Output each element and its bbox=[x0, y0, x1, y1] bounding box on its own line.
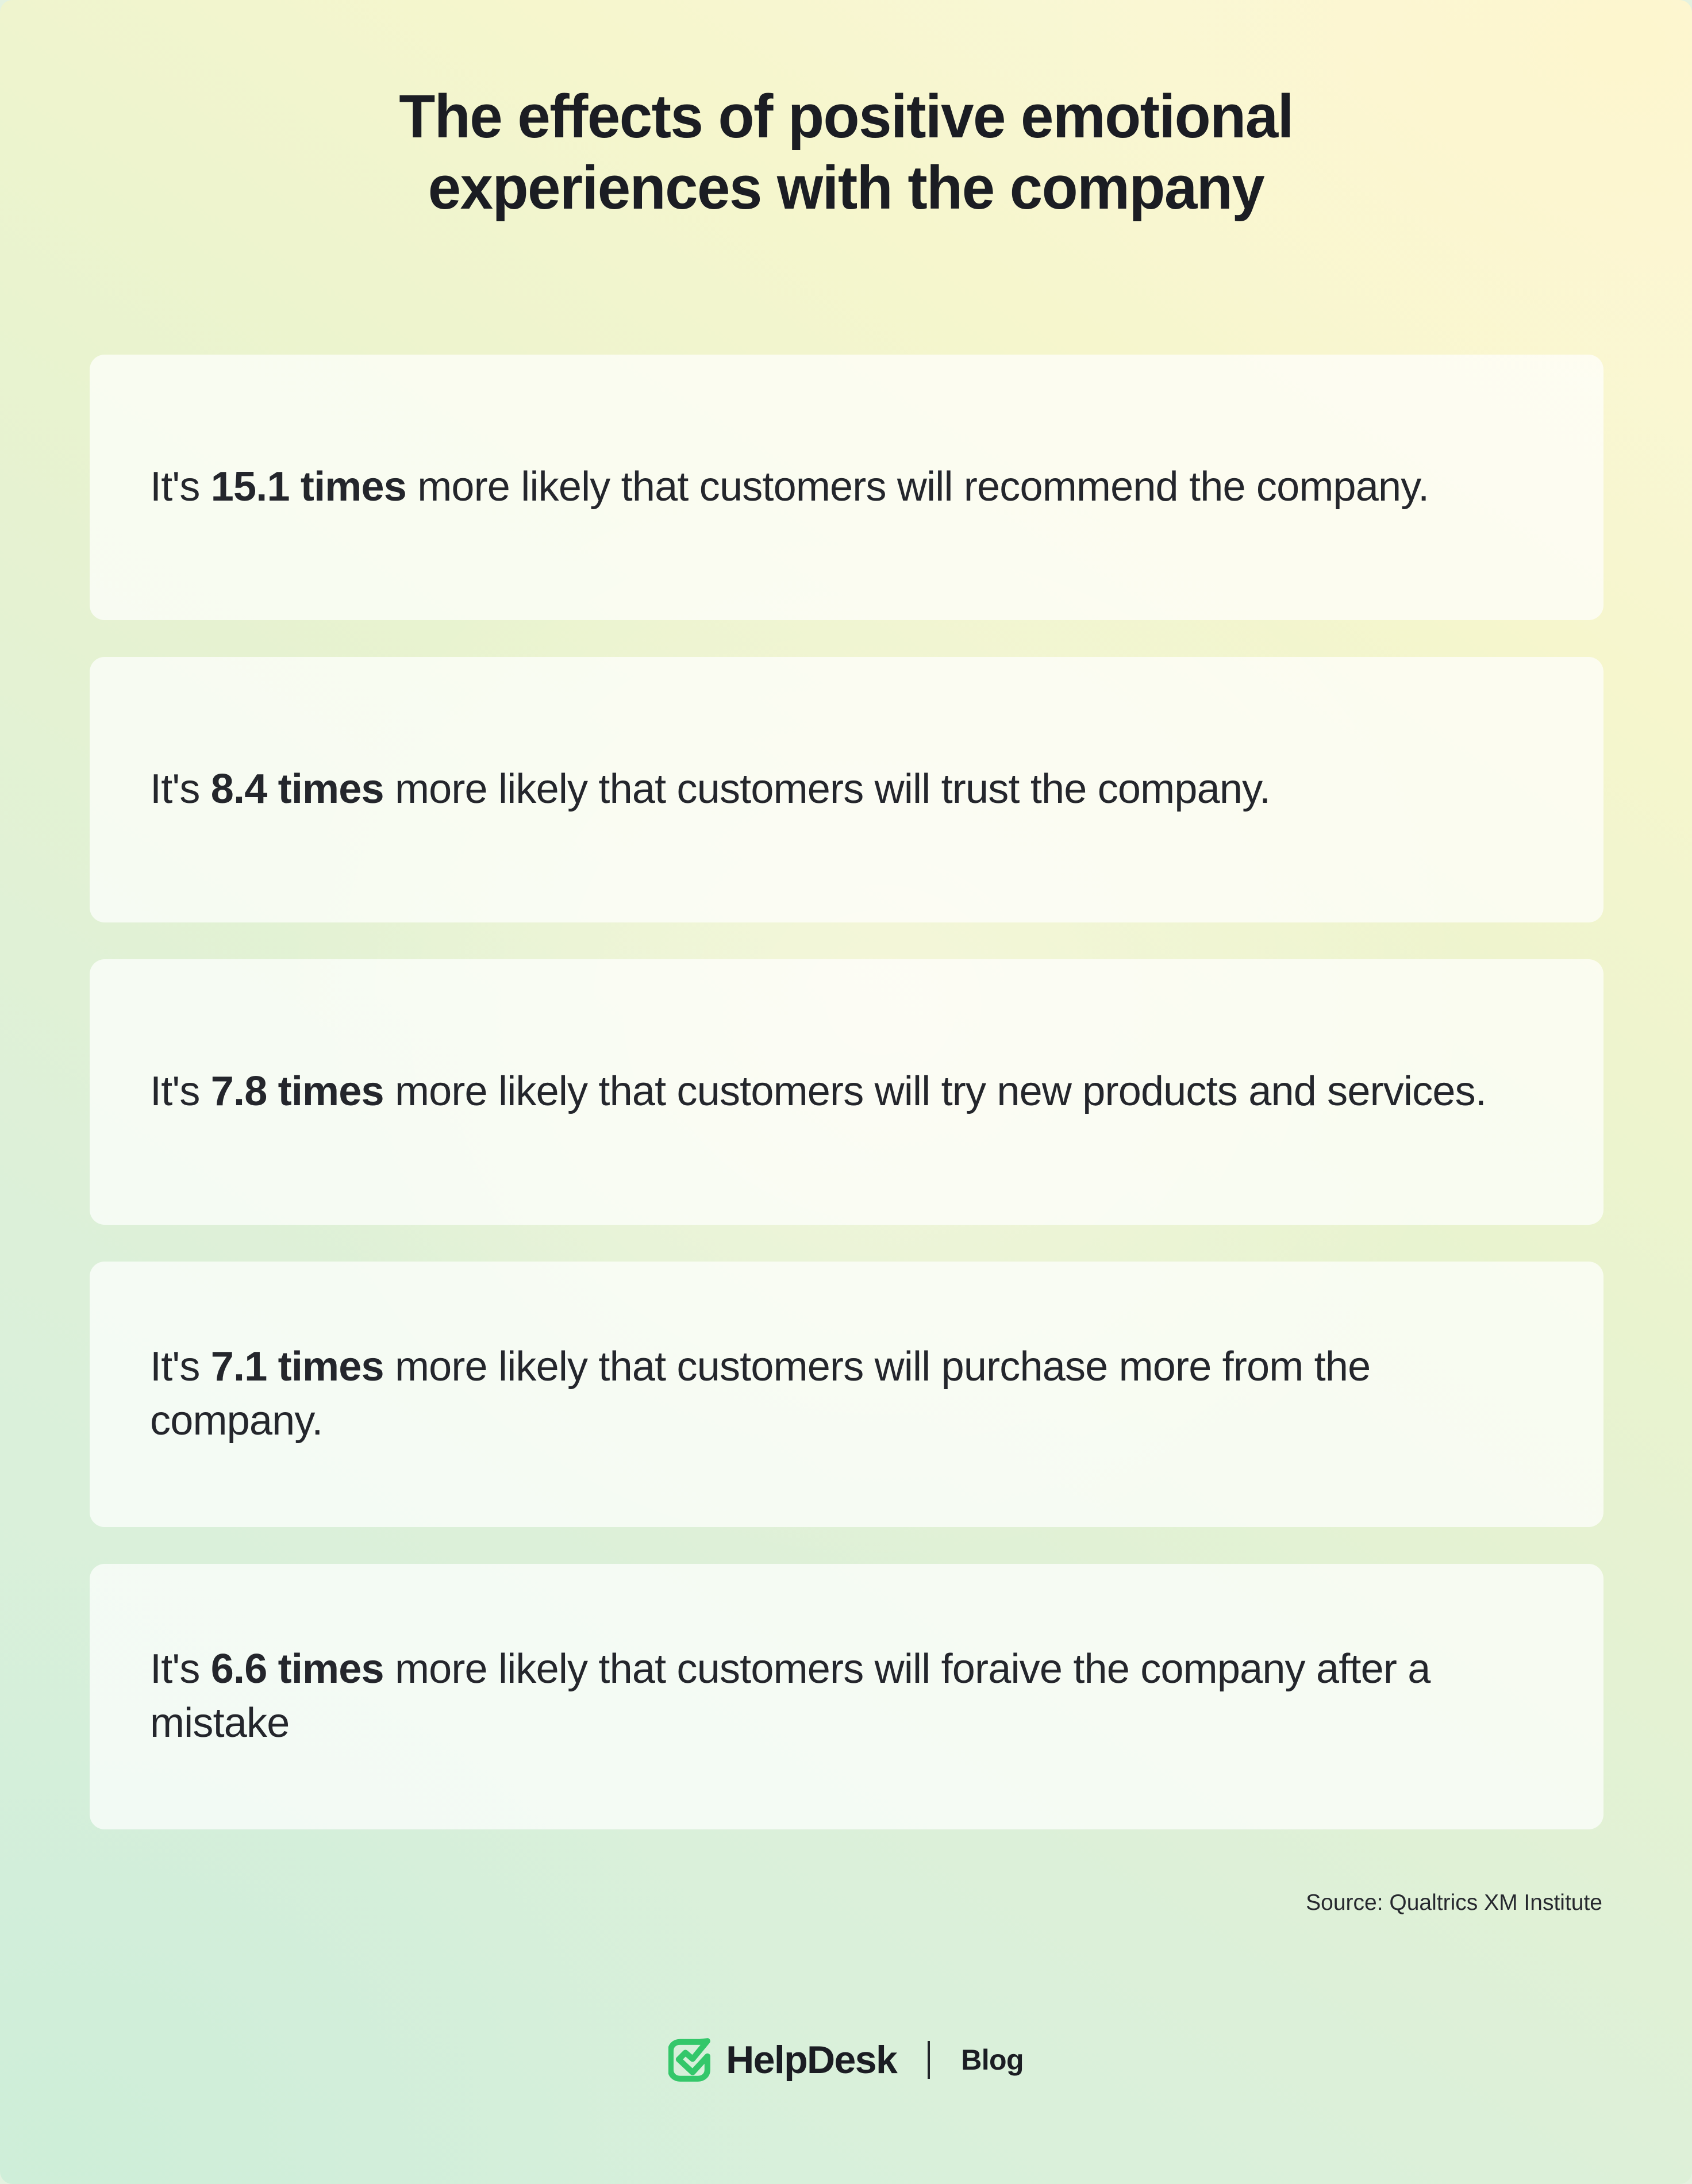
stat-emphasis: 7.8 times bbox=[211, 1068, 384, 1114]
stat-prefix: It's bbox=[150, 464, 211, 510]
stat-emphasis: 6.6 times bbox=[211, 1646, 384, 1692]
stat-suffix: more likely that customers will recommen… bbox=[406, 464, 1429, 510]
stat-emphasis: 15.1 times bbox=[211, 464, 406, 510]
infographic-poster: The effects of positive emotionalexperie… bbox=[0, 0, 1692, 2184]
stat-text: It's 6.6 times more likely that customer… bbox=[150, 1643, 1512, 1750]
stat-card: It's 8.4 times more likely that customer… bbox=[90, 657, 1603, 922]
source-attribution: Source: Qualtrics XM Institute bbox=[1306, 1890, 1602, 1917]
title-line-2: experiences with the company bbox=[428, 153, 1264, 222]
stat-card: It's 7.1 times more likely that customer… bbox=[90, 1262, 1603, 1527]
stat-prefix: It's bbox=[150, 1068, 211, 1114]
page-title: The effects of positive emotionalexperie… bbox=[0, 80, 1692, 223]
title-heading: The effects of positive emotionalexperie… bbox=[196, 80, 1496, 223]
stat-card: It's 6.6 times more likely that customer… bbox=[90, 1564, 1603, 1829]
stat-card: It's 7.8 times more likely that customer… bbox=[90, 959, 1603, 1225]
blog-link[interactable]: Blog bbox=[961, 2045, 1024, 2074]
brand-name: HelpDesk bbox=[726, 2040, 897, 2079]
stat-emphasis: 8.4 times bbox=[211, 766, 384, 812]
title-line-1: The effects of positive emotional bbox=[399, 82, 1293, 151]
stat-text: It's 7.1 times more likely that customer… bbox=[150, 1340, 1512, 1448]
stat-prefix: It's bbox=[150, 766, 211, 812]
stat-text: It's 7.8 times more likely that customer… bbox=[150, 1065, 1486, 1119]
stat-emphasis: 7.1 times bbox=[211, 1344, 384, 1390]
stat-suffix: more likely that customers will trust th… bbox=[384, 766, 1270, 812]
stat-text: It's 15.1 times more likely that custome… bbox=[150, 460, 1429, 514]
stat-suffix: more likely that customers will try new … bbox=[384, 1068, 1486, 1114]
checkbox-check-icon bbox=[668, 2037, 713, 2082]
stat-prefix: It's bbox=[150, 1646, 211, 1692]
footer: HelpDesk Blog bbox=[0, 2037, 1692, 2082]
stat-text: It's 8.4 times more likely that customer… bbox=[150, 763, 1270, 817]
stat-card-list: It's 15.1 times more likely that custome… bbox=[90, 355, 1603, 1829]
stat-prefix: It's bbox=[150, 1344, 211, 1390]
footer-divider bbox=[928, 2041, 930, 2079]
stat-card: It's 15.1 times more likely that custome… bbox=[90, 355, 1603, 620]
helpdesk-logo[interactable]: HelpDesk bbox=[668, 2037, 897, 2082]
